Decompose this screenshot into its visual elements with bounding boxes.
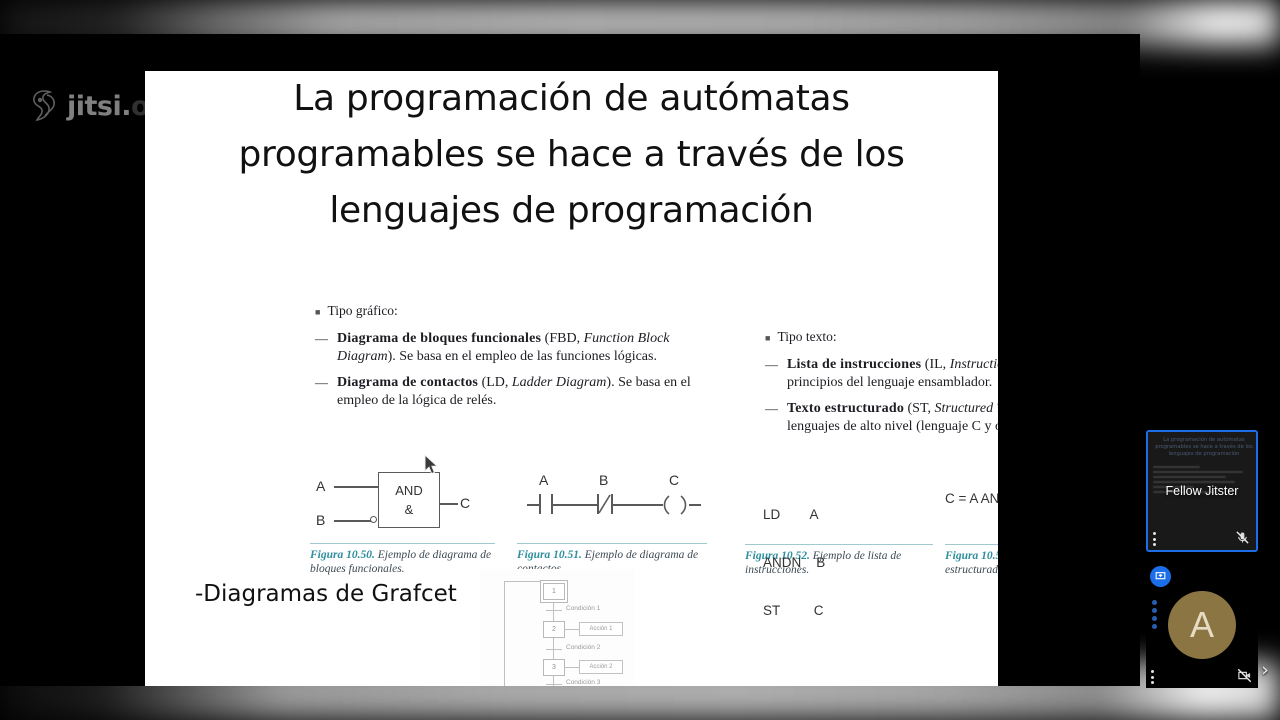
ladder-diagram: A B C [517, 466, 707, 538]
connection-indicator [1152, 600, 1157, 629]
list-item: — Lista de instrucciones (IL, Instructio… [765, 356, 998, 391]
figure-number: Figura 10.50. [310, 549, 375, 561]
list-item: — Diagrama de bloques funcionales (FBD, … [315, 330, 730, 365]
list-item: — Diagrama de contactos (LD, Ladder Diag… [315, 374, 730, 409]
avatar: A [1168, 591, 1236, 659]
participant-tile-fellow-jitster[interactable]: La programación de autómatas programable… [1146, 430, 1258, 552]
ladder-coil-c-icon [661, 492, 691, 516]
term: Texto estructurado [787, 401, 904, 416]
fbd-wire-a [334, 486, 378, 488]
right-column-bullet: ■ Tipo texto: [765, 329, 998, 347]
fbd-output-c-label: C [460, 495, 470, 511]
ladder-label-c: C [669, 472, 679, 488]
bullet-square-icon: ■ [765, 329, 770, 347]
figure-structured-text: C = A AND NOT B Figura 10.53. Ejemplo de… [945, 461, 998, 577]
grafcet-action: Acción 2 [579, 660, 623, 674]
term: Diagrama de contactos [337, 375, 478, 390]
il-code-line: ANDN B [763, 555, 825, 571]
ladder-rail-left [527, 504, 539, 506]
fbd-gate-label-amp: & [405, 500, 414, 519]
tile-menu-button[interactable] [1151, 670, 1155, 684]
term: Diagrama de bloques funcionales [337, 331, 541, 346]
fbd-wire-b [334, 520, 371, 522]
jitsi-meeting-window: jitsi.org La programación de autómatas p… [0, 0, 1280, 720]
list-item: — Texto estructurado (ST, Structured Tex… [765, 400, 998, 435]
fbd-diagram: A B C AND & [310, 466, 495, 538]
grafcet-action-link-1 [565, 629, 579, 630]
participant-name: Fellow Jitster [1148, 484, 1256, 498]
mouse-cursor-icon [424, 454, 440, 476]
grafcet-condition: Condición 2 [566, 644, 600, 651]
bullet-square-icon: ■ [315, 303, 320, 321]
fbd-input-a-label: A [316, 478, 325, 494]
camera-muted-icon [1237, 668, 1252, 683]
grafcet-loop-left [504, 581, 505, 686]
slide-title: La programación de autómatas programable… [175, 71, 968, 239]
em-dash-icon: — [315, 374, 328, 409]
ladder-link-2 [613, 504, 663, 506]
figure-caption: Figura 10.50. Ejemplo de diagrama de blo… [310, 543, 495, 576]
left-column-bullet: ■ Tipo gráfico: [315, 303, 730, 321]
microphone-muted-icon [1235, 530, 1250, 545]
participant-tile-a[interactable]: A [1146, 562, 1258, 688]
grafcet-step: 1 [543, 583, 565, 600]
figure-instruction-list: LD A ANDN B ST C Figura 10.52. Ejemplo d… [745, 461, 933, 577]
em-dash-icon: — [765, 400, 778, 435]
left-column-bullet-label: Tipo gráfico: [327, 303, 397, 321]
filmstrip: La programación de autómatas programable… [1140, 34, 1280, 686]
ladder-contact-a-bar1 [539, 494, 541, 514]
ladder-label-a: A [539, 472, 548, 488]
grafcet-action-link-2 [565, 667, 579, 668]
slide-title-line-2: programables se hace a través de los [175, 127, 968, 183]
grafcet-transition-bar-1 [546, 610, 562, 611]
screen-share-video[interactable]: jitsi.org La programación de autómatas p… [0, 34, 1140, 686]
filmstrip-toggle-button[interactable]: › [1254, 656, 1276, 684]
slide-title-line-3: lenguajes de programación [175, 183, 968, 239]
grafcet-action: Acción 1 [579, 622, 623, 636]
slide-right-column: ■ Tipo texto: — Lista de instrucciones (… [765, 329, 998, 435]
figure-number: Figura 10.53. [945, 550, 998, 562]
fbd-input-b-label: B [316, 512, 325, 528]
il-code-line: LD A [763, 507, 825, 523]
figure-fbd: A B C AND & Figura 10.50. Ejemplo de dia… [310, 466, 495, 576]
ladder-link-1 [553, 504, 597, 506]
term: Lista de instrucciones [787, 357, 921, 372]
il-code-block: LD A ANDN B ST C [745, 461, 933, 539]
il-code-line: ST C [763, 603, 825, 619]
em-dash-icon: — [765, 356, 778, 391]
figure-grafcet: 1 Condición 1 2 Acción 1 Condición 2 3 A… [480, 569, 635, 686]
right-column-bullet-label: Tipo texto: [777, 329, 836, 347]
fbd-and-gate: AND & [378, 472, 440, 528]
tile-mini-slide-title: La programación de autómatas programable… [1153, 437, 1255, 458]
jitsi-logo-icon [28, 89, 60, 123]
st-code-block: C = A AND NOT B [945, 461, 998, 539]
figure-ladder: A B C [517, 466, 707, 576]
slide-left-column: ■ Tipo gráfico: — Diagrama de bloques fu… [315, 303, 730, 409]
fbd-invert-bubble-icon [370, 516, 377, 523]
grafcet-step: 3 [543, 659, 565, 676]
slide-title-line-1: La programación de autómatas [175, 71, 968, 127]
ladder-rail-right [689, 504, 701, 506]
grafcet-transition-bar-3 [546, 684, 562, 685]
ladder-label-b: B [599, 472, 608, 488]
st-code-line: C = A AND NOT B [945, 491, 998, 507]
grafcet-loop-top [504, 581, 554, 582]
grafcet-transition-bar-2 [546, 649, 562, 650]
em-dash-icon: — [315, 330, 328, 365]
grafcet-step: 2 [543, 621, 565, 638]
tile-menu-button[interactable] [1153, 532, 1157, 546]
presentation-slide: La programación de autómatas programable… [145, 71, 998, 686]
grafcet-condition: Condición 3 [566, 679, 600, 686]
screen-share-badge-icon [1150, 566, 1171, 587]
figure-number: Figura 10.51. [517, 549, 582, 561]
figure-caption: Figura 10.53. Ejemplo de texto estructur… [945, 544, 998, 577]
fbd-wire-c [440, 503, 458, 505]
fbd-gate-label-and: AND [395, 481, 422, 500]
grafcet-label: -Diagramas de Grafcet [195, 581, 457, 607]
grafcet-condition: Condición 1 [566, 605, 600, 612]
